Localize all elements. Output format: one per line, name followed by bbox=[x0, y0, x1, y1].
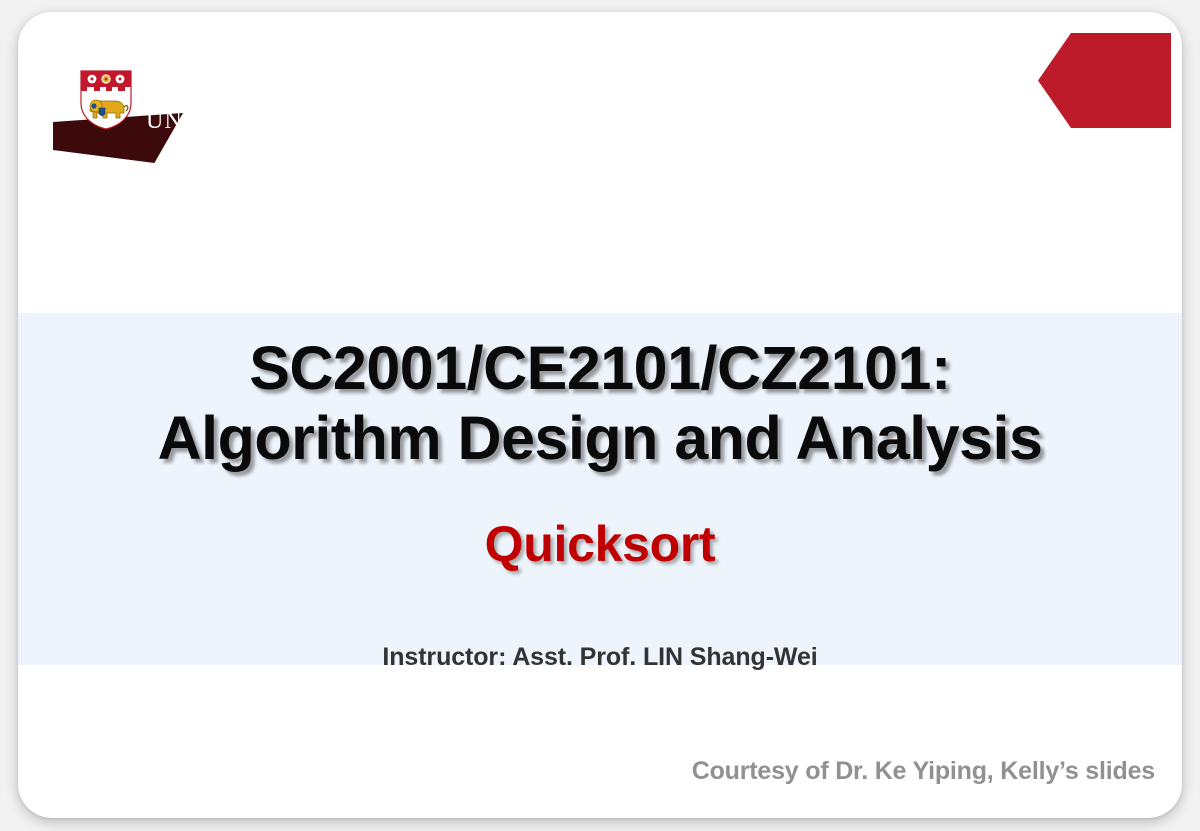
wordmark-line-1: NANYANG bbox=[146, 67, 302, 92]
topic-title: Quicksort bbox=[18, 515, 1182, 573]
course-title-line-2: Algorithm Design and Analysis bbox=[18, 404, 1182, 474]
ntu-wordmark: NANYANG TECHNOLOGICAL UNIVERSITY bbox=[146, 67, 302, 134]
course-title-line-1: SC2001/CE2101/CZ2101: bbox=[18, 334, 1182, 404]
wordmark-line-2: TECHNOLOGICAL bbox=[146, 93, 302, 109]
slide-root: NANYANG TECHNOLOGICAL UNIVERSITY SC2001/… bbox=[0, 0, 1200, 831]
ntu-crest-icon bbox=[79, 69, 133, 131]
courtesy-note: Courtesy of Dr. Ke Yiping, Kelly’s slide… bbox=[692, 757, 1155, 786]
header-ribbon: NANYANG TECHNOLOGICAL UNIVERSITY bbox=[31, 33, 1171, 151]
slide-page: NANYANG TECHNOLOGICAL UNIVERSITY SC2001/… bbox=[18, 12, 1182, 818]
ntu-logo-lockup: NANYANG TECHNOLOGICAL UNIVERSITY bbox=[79, 63, 302, 137]
instructor-line: Instructor: Asst. Prof. LIN Shang-Wei bbox=[18, 643, 1182, 672]
title-block: SC2001/CE2101/CZ2101: Algorithm Design a… bbox=[18, 334, 1182, 672]
wordmark-line-3: UNIVERSITY bbox=[146, 109, 302, 133]
